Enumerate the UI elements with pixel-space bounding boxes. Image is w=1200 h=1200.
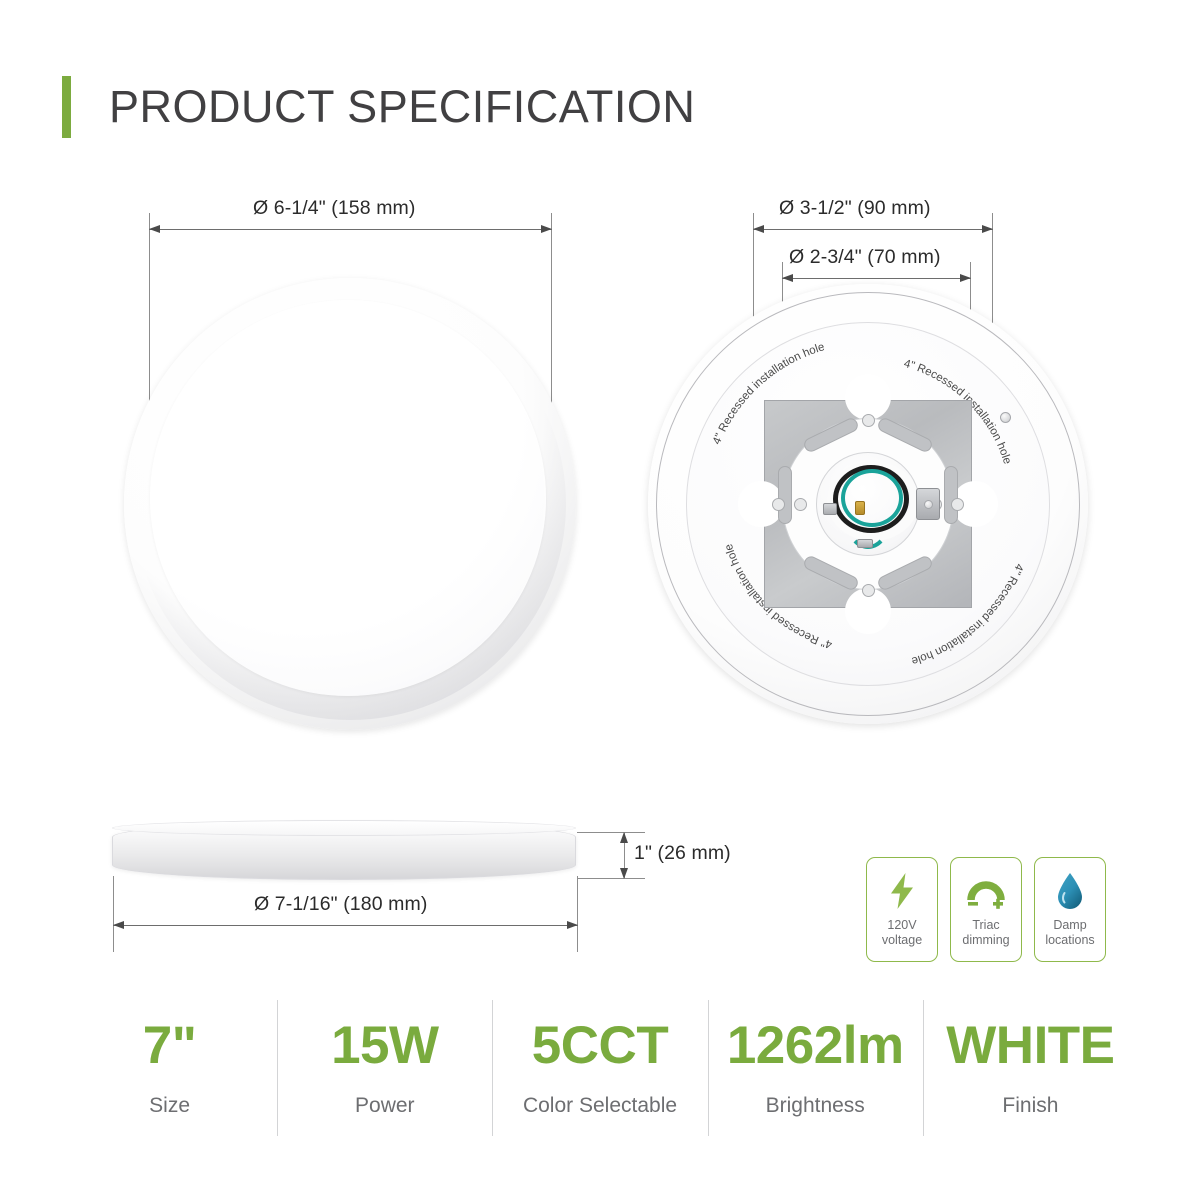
spec-item-finish: WHITE Finish — [923, 994, 1138, 1142]
front-view-diameter-label: Ø 6-1/4" (158 mm) — [253, 197, 416, 220]
spec-name-finish: Finish — [1002, 1094, 1058, 1118]
spec-name-size: Size — [149, 1094, 190, 1118]
spec-value-size: 7" — [143, 1019, 197, 1072]
spec-value-power: 15W — [331, 1019, 438, 1072]
front-view-diagram — [124, 278, 576, 730]
badge-voltage[interactable]: 120V voltage — [866, 857, 938, 962]
spec-name-power: Power — [355, 1094, 415, 1118]
badge-dimming[interactable]: Triac dimming — [950, 857, 1022, 962]
feature-badges: 120V voltage Triac dimming — [866, 857, 1106, 962]
accent-bar — [62, 76, 71, 138]
front-dim-arrow-right — [541, 225, 552, 233]
badge-damp-location[interactable]: Damp locations — [1034, 857, 1106, 962]
spec-value-brightness: 1262lm — [727, 1019, 904, 1072]
back-inner-dim-arrow-left — [782, 274, 793, 282]
bracket-hole-right-b — [951, 498, 964, 511]
back-inner-dim-arrow-right — [960, 274, 971, 282]
front-dim-line — [149, 229, 552, 230]
mounting-bracket — [764, 400, 972, 608]
spec-summary-bar: 7" Size 15W Power 5CCT Color Selectable … — [62, 994, 1138, 1142]
back-inner-dim-line — [782, 278, 971, 279]
spec-value-cct: 5CCT — [532, 1019, 668, 1072]
side-height-arrow-top — [620, 832, 628, 843]
spec-name-cct: Color Selectable — [523, 1094, 677, 1118]
side-width-arrow-left — [113, 921, 124, 929]
side-height-witness-bottom — [577, 878, 645, 879]
side-view-height-label: 1" (26 mm) — [634, 842, 731, 865]
badge-dimming-line2: dimming — [962, 933, 1009, 948]
side-width-dim-line — [113, 925, 578, 926]
bracket-side-clip-screw — [924, 500, 933, 509]
lightning-bolt-icon — [887, 871, 917, 911]
side-width-witness-left — [113, 876, 114, 952]
badge-damp-line2: locations — [1045, 933, 1094, 948]
badge-voltage-line2: voltage — [882, 933, 922, 948]
bracket-hole-top — [862, 414, 875, 427]
spec-value-finish: WHITE — [946, 1019, 1114, 1072]
side-width-witness-right — [577, 876, 578, 952]
bracket-slot-left-upper — [778, 466, 792, 524]
fixture-diffuser-lens — [150, 300, 546, 696]
dimmer-arc-icon — [966, 871, 1006, 911]
page-header: PRODUCT SPECIFICATION — [62, 76, 695, 138]
page-title: PRODUCT SPECIFICATION — [109, 81, 695, 133]
back-view-outer-diameter-label: Ø 3-1/2" (90 mm) — [779, 197, 931, 220]
wire-clip-mid — [855, 501, 865, 515]
back-outer-dim-arrow-right — [982, 225, 993, 233]
badge-dimming-label: Triac dimming — [962, 918, 1009, 948]
badge-dimming-line1: Triac — [962, 918, 1009, 933]
side-width-arrow-right — [567, 921, 578, 929]
bracket-hole-left-b — [794, 498, 807, 511]
back-view-diagram: 4" Recessed installation hole 4" Recesse… — [648, 284, 1088, 724]
wire-clip-left — [823, 503, 837, 515]
fixture-back-housing: 4" Recessed installation hole 4" Recesse… — [648, 284, 1088, 724]
spec-item-power: 15W Power — [277, 994, 492, 1142]
wiring-compartment — [816, 452, 920, 556]
bracket-hole-bottom — [862, 584, 875, 597]
bracket-slot-right-upper — [944, 466, 958, 524]
spec-item-brightness: 1262lm Brightness — [708, 994, 923, 1142]
spec-name-brightness: Brightness — [766, 1094, 865, 1118]
back-outer-dim-line — [753, 229, 993, 230]
front-dim-arrow-left — [149, 225, 160, 233]
side-view-width-label: Ø 7-1/16" (180 mm) — [254, 893, 427, 916]
fixture-top-edge — [112, 820, 576, 836]
spec-item-size: 7" Size — [62, 994, 277, 1142]
back-outer-dim-arrow-left — [753, 225, 764, 233]
badge-voltage-label: 120V voltage — [882, 918, 922, 948]
badge-voltage-line1: 120V — [882, 918, 922, 933]
badge-damp-line1: Damp — [1045, 918, 1094, 933]
housing-screw-right — [1000, 412, 1011, 423]
spec-item-cct: 5CCT Color Selectable — [492, 994, 707, 1142]
wire-clip-bottom — [857, 539, 873, 548]
side-height-witness-top — [577, 832, 645, 833]
badge-damp-label: Damp locations — [1045, 918, 1094, 948]
side-height-arrow-bottom — [620, 868, 628, 879]
bracket-hole-left-a — [772, 498, 785, 511]
back-view-inner-diameter-label: Ø 2-3/4" (70 mm) — [789, 246, 941, 269]
water-droplet-icon — [1055, 871, 1085, 911]
side-view-diagram — [112, 822, 576, 880]
